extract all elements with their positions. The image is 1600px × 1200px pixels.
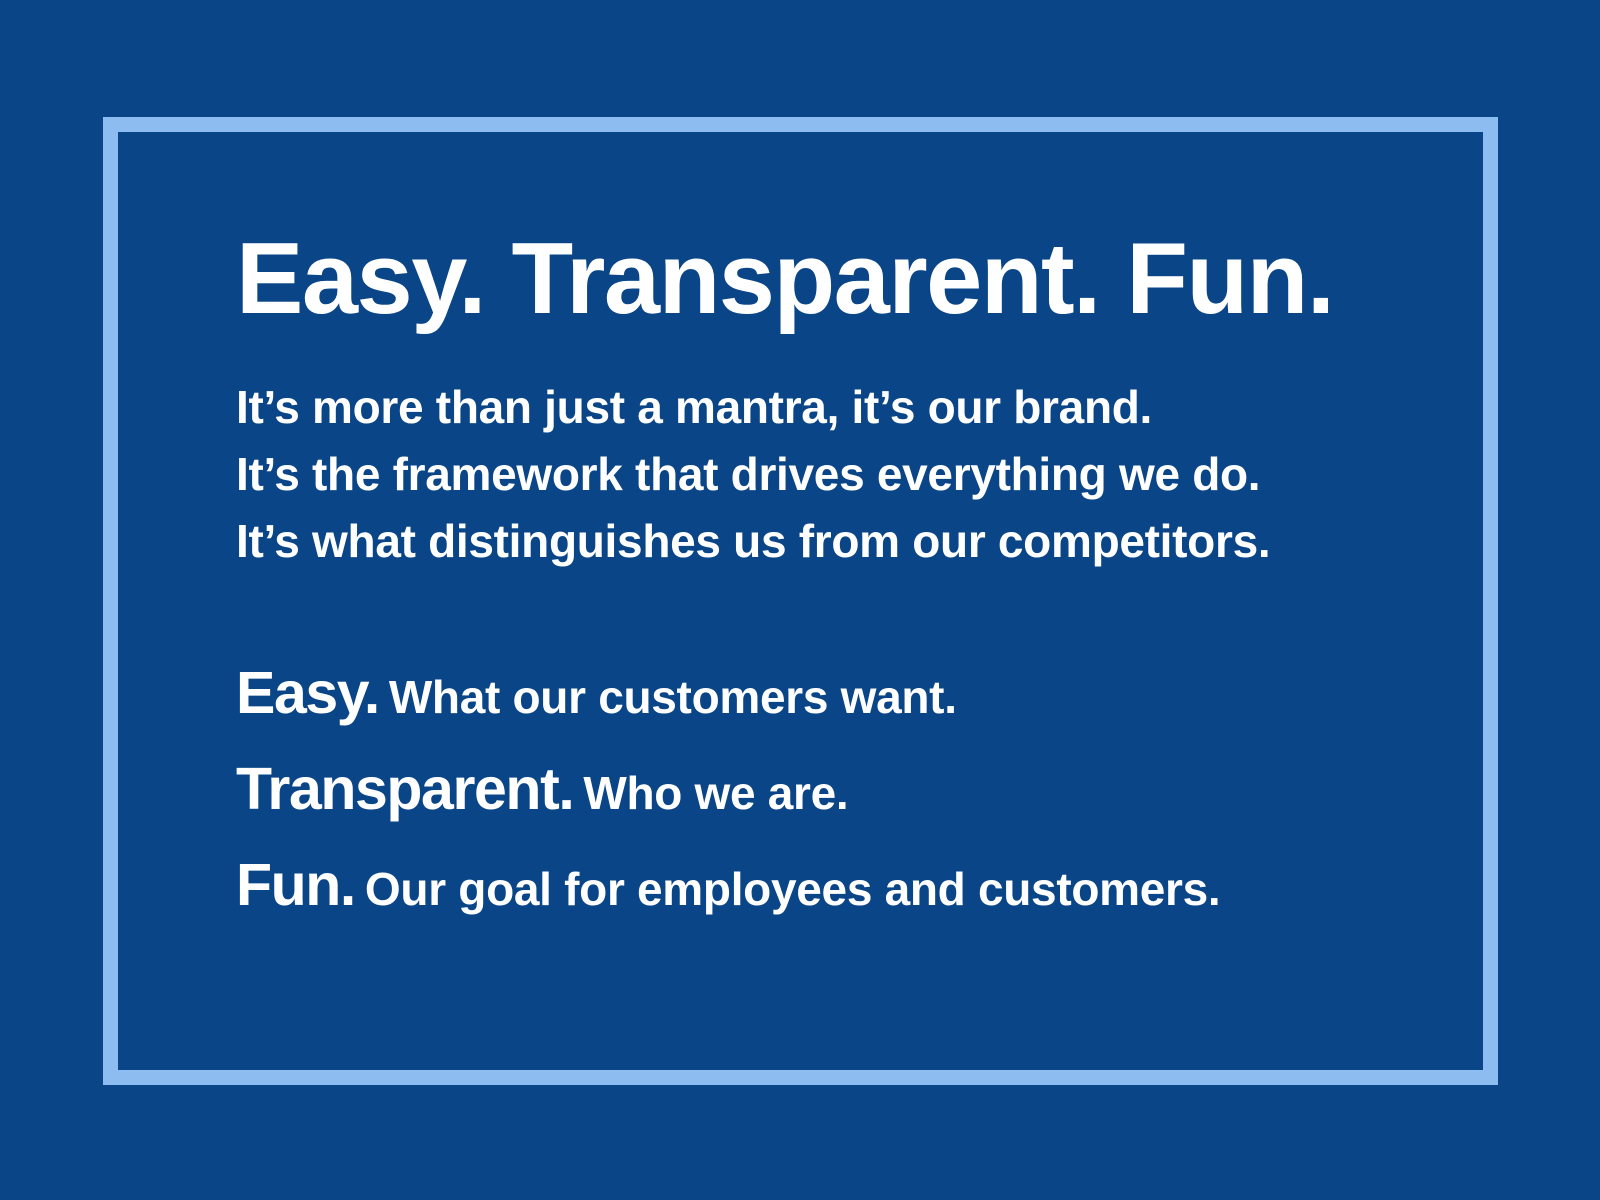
mantra-line-2: It’s the framework that drives everythin…: [236, 441, 1366, 508]
pillar-description-fun: Our goal for employees and customers.: [365, 863, 1220, 915]
slide-canvas: Easy. Transparent. Fun. It’s more than j…: [0, 0, 1600, 1200]
pillar-description-transparent: Who we are.: [583, 767, 848, 819]
pillar-item-transparent: Transparent.Who we are.: [236, 749, 1366, 845]
pillar-term-easy: Easy.: [236, 660, 379, 726]
slide-content: Easy. Transparent. Fun. It’s more than j…: [236, 228, 1366, 941]
mantra-line-1: It’s more than just a mantra, it’s our b…: [236, 374, 1366, 441]
pillar-term-fun: Fun.: [236, 852, 355, 918]
pillar-item-easy: Easy.What our customers want.: [236, 653, 1366, 749]
mantra-line-3: It’s what distinguishes us from our comp…: [236, 508, 1366, 575]
pillar-item-fun: Fun.Our goal for employees and customers…: [236, 845, 1366, 941]
pillar-term-transparent: Transparent.: [236, 756, 573, 822]
pillar-description-easy: What our customers want.: [389, 671, 957, 723]
pillars-list: Easy.What our customers want. Transparen…: [236, 653, 1366, 941]
mantra-paragraph: It’s more than just a mantra, it’s our b…: [236, 374, 1366, 575]
page-title: Easy. Transparent. Fun.: [236, 228, 1366, 331]
